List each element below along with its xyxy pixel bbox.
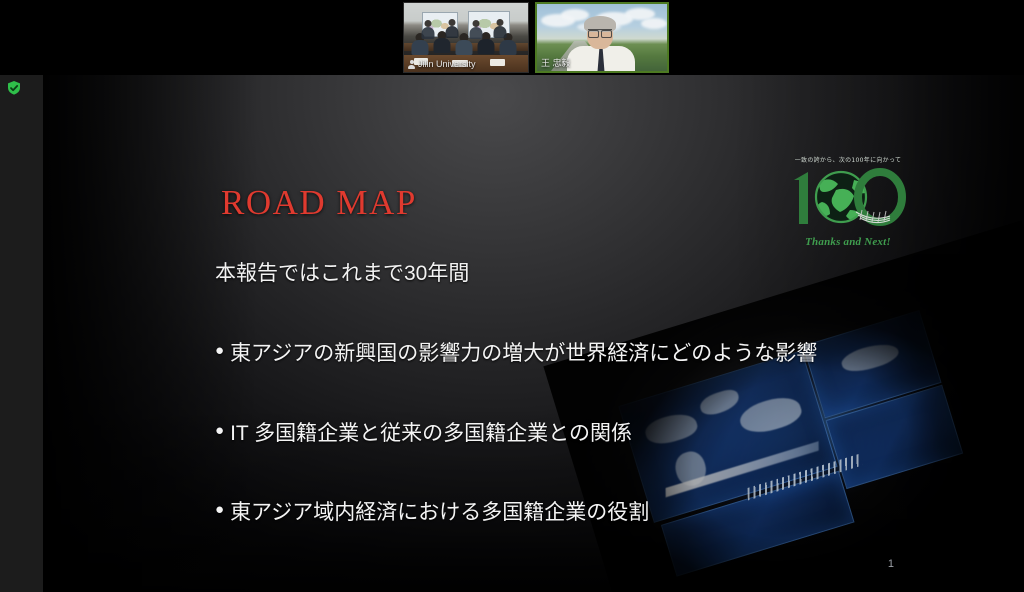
anniversary-subtitle: Thanks and Next! <box>778 236 918 248</box>
paper <box>490 59 505 66</box>
slide-page-number: 1 <box>888 558 894 570</box>
slide-lead-text: 本報告ではこれまで30年間 <box>215 260 915 288</box>
bullet-marker-icon: ● <box>215 420 224 442</box>
anniversary-100-globe-icon <box>784 166 912 228</box>
slide-bullet-2: ● IT 多国籍企業と従来の多国籍企業との関係 <box>215 420 915 447</box>
student-figure <box>492 19 507 39</box>
participant-name: 王 忠毅 <box>541 58 571 69</box>
cloud <box>561 9 589 21</box>
meeting-screen-share-view: ROAD MAP 一致の誇から、次の100年に向かって <box>0 0 1024 592</box>
slide-bullet-1: ● 東アジアの新興国の影響力の増大が世界経済にどのような影響 <box>215 340 915 367</box>
person-icon <box>408 60 415 69</box>
video-thumbnail-active-speaker[interactable]: 王 忠毅 <box>535 2 669 73</box>
slide-body: 本報告ではこれまで30年間 ● 東アジアの新興国の影響力の増大が世界経済にどのよ… <box>215 260 915 578</box>
video-thumbnail-participants[interactable]: Jilin University <box>403 2 529 73</box>
student-figure <box>444 19 459 39</box>
bullet-text: 東アジアの新興国の影響力の増大が世界経済にどのような影響 <box>230 340 817 367</box>
shared-slide[interactable]: ROAD MAP 一致の誇から、次の100年に向かって <box>43 75 1024 592</box>
thumbnail-name-label-participants: Jilin University <box>404 58 481 72</box>
anniversary-logo: 一致の誇から、次の100年に向かって <box>778 155 918 251</box>
bullet-text: IT 多国籍企業と従来の多国籍企業との関係 <box>230 420 632 447</box>
student-figure <box>468 20 483 40</box>
student-figure <box>420 20 435 40</box>
bullet-marker-icon: ● <box>215 499 224 521</box>
bullet-marker-icon: ● <box>215 340 224 362</box>
thumbnail-name-label-speaker: 王 忠毅 <box>537 57 576 71</box>
video-thumbnail-strip: Jilin University 王 忠毅 <box>0 0 1024 75</box>
speaker-glasses <box>588 29 612 36</box>
bullet-text: 東アジア域内経済における多国籍企業の役割 <box>230 499 649 526</box>
anniversary-tagline: 一致の誇から、次の100年に向かって <box>778 155 918 164</box>
shield-check-icon[interactable] <box>5 79 23 97</box>
slide-title: ROAD MAP <box>221 183 417 223</box>
participant-name: Jilin University <box>418 59 476 70</box>
cloud <box>641 18 667 29</box>
slide-bullet-3: ● 東アジア域内経済における多国籍企業の役割 <box>215 499 915 526</box>
